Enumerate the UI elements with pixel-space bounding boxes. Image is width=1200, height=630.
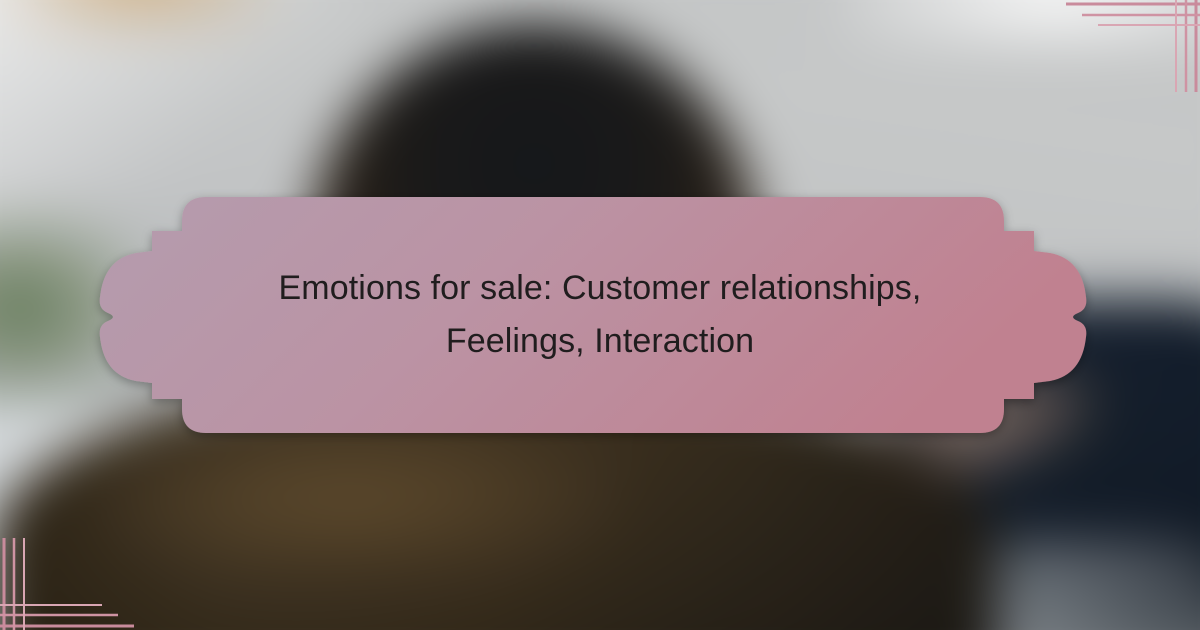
title-line-1: Emotions for sale: Customer relationship… xyxy=(279,262,922,315)
share-card: Emotions for sale: Customer relationship… xyxy=(0,0,1200,630)
title-plaque: Emotions for sale: Customer relationship… xyxy=(104,193,1096,437)
plaque-title: Emotions for sale: Customer relationship… xyxy=(104,193,1096,437)
title-line-2: Feelings, Interaction xyxy=(446,315,754,368)
